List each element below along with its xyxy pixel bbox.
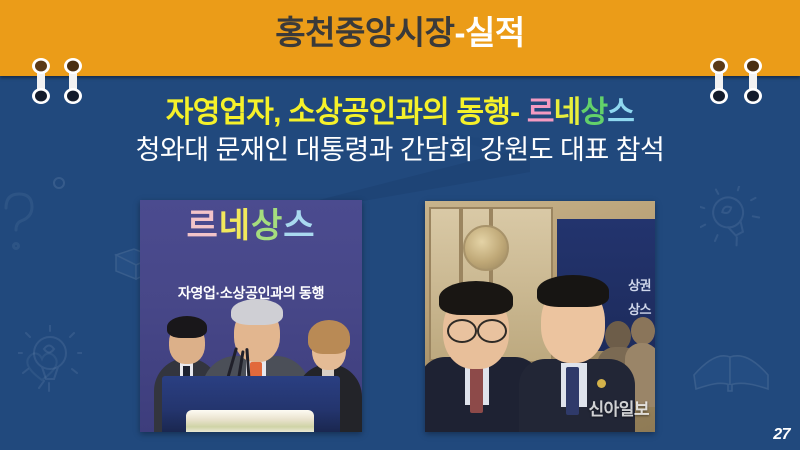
photo-moon-jae-in-press-conference: 르네상스 자영업·소상공인과의 동행 xyxy=(140,200,362,432)
brand-char-4: 스 xyxy=(607,96,634,129)
question-mark-icon xyxy=(0,188,44,258)
eyeglasses-icon xyxy=(477,319,507,343)
rivet-pin-icon xyxy=(742,56,764,108)
brand-char-2: 네 xyxy=(554,96,581,129)
photo-watermark: 신아일보 xyxy=(588,395,649,420)
photo-banner-char-4: 스 xyxy=(283,207,315,245)
photo-banner-char-1: 르 xyxy=(186,207,218,245)
page-title: 홍천중앙시장-실적 xyxy=(0,6,800,54)
photo-banner-char-3: 상 xyxy=(251,207,283,245)
rivet-pin-icon xyxy=(62,56,84,108)
flower-arrangement xyxy=(186,410,314,432)
page-title-main: 홍천중앙시장 xyxy=(275,14,454,51)
lightbulb-icon xyxy=(700,186,760,256)
lapel-badge-icon xyxy=(597,379,606,388)
heading-block: 자영업자, 소상공인과의 동행- 르네상스 청와대 문재인 대통령과 간담회 강… xyxy=(0,96,800,166)
rivet-pin-icon xyxy=(708,56,730,108)
page-title-accent: -실적 xyxy=(454,14,524,51)
lightbulb-icon xyxy=(18,325,82,399)
photo-banner-char-2: 네 xyxy=(219,207,251,245)
heart-icon xyxy=(22,348,62,384)
brand-char-1: 르 xyxy=(527,96,554,129)
photo-selfie-two-men: 상권 상스 xyxy=(425,201,655,432)
presentation-slide: 홍천중앙시장-실적 xyxy=(0,0,800,450)
book-icon xyxy=(690,345,774,393)
photo-banner-title: 르네상스 xyxy=(140,200,362,247)
wall-medallion xyxy=(463,225,509,271)
circle-icon xyxy=(52,176,66,190)
subtitle-line-1-main: 자영업자, 소상공인과의 동행- xyxy=(166,96,527,129)
eyeglasses-icon xyxy=(447,319,477,343)
brand-char-3: 상 xyxy=(580,96,607,129)
subtitle-line-2: 청와대 문재인 대통령과 간담회 강원도 대표 참석 xyxy=(0,134,800,166)
rivet-pin-icon xyxy=(30,56,52,108)
subtitle-line-1: 자영업자, 소상공인과의 동행- 르네상스 xyxy=(0,96,800,131)
page-number: 27 xyxy=(773,426,790,444)
header-bar: 홍천중앙시장-실적 xyxy=(0,0,800,76)
